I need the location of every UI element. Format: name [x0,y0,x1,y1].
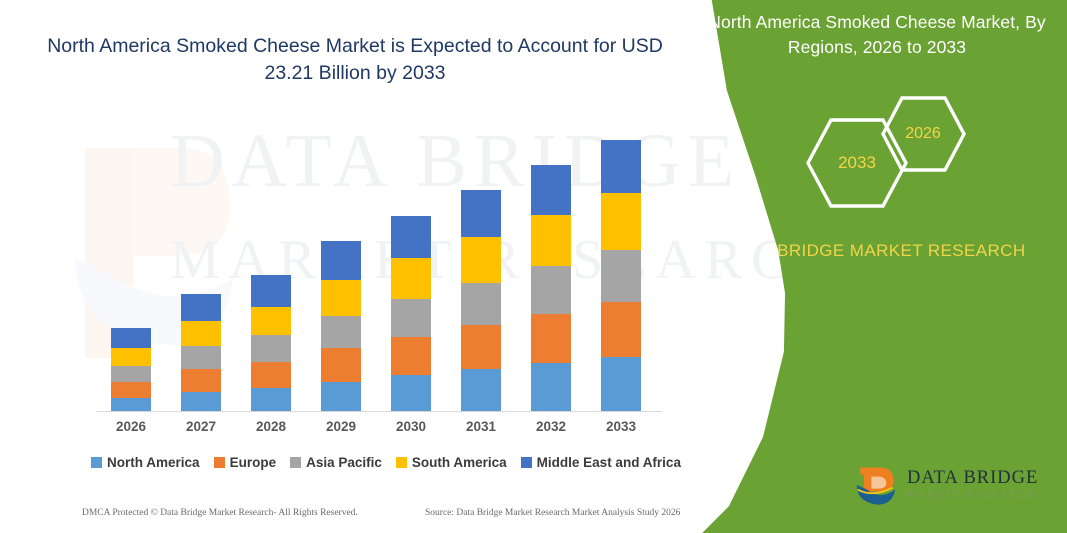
legend-item[interactable]: Europe [214,455,277,470]
page-title: North America Smoked Cheese Market is Ex… [40,33,670,87]
legend-label: Asia Pacific [306,455,382,470]
bar-segment [461,283,501,325]
bar-segment [531,215,571,266]
bar-segment [321,382,361,412]
bar-segment [601,250,641,302]
x-axis-tick-2029: 2029 [313,419,369,434]
bar-column-2028 [251,275,291,412]
bar-segment [601,140,641,193]
bar-segment [321,280,361,316]
bar-segment [461,237,501,283]
legend-swatch-icon [396,457,407,468]
logo-wordmark: DATA BRIDGE MARKET RESEARCH [907,467,1038,502]
bar-segment [251,335,291,362]
bar-segment [601,302,641,356]
x-axis-tick-2031: 2031 [453,419,509,434]
bar-segment [321,348,361,382]
legend-label: Europe [230,455,277,470]
bar-segment [531,266,571,313]
bar-segment [111,348,151,366]
axis-baseline [96,411,662,412]
legend-label: South America [412,455,507,470]
green-side-panel: North America Smoked Cheese Market, By R… [687,0,1067,533]
x-axis-tick-2026: 2026 [103,419,159,434]
bar-segment [181,321,221,346]
brand-name: DATA BRIDGE MARKET RESEARCH [687,238,1067,263]
legend-label: North America [107,455,200,470]
bar-segment [461,190,501,237]
legend-swatch-icon [91,457,102,468]
legend-swatch-icon [214,457,225,468]
hexagon-2026-label: 2026 [905,125,941,143]
data-bridge-logo-mark [853,461,899,507]
bar-segment [111,382,151,399]
logo-subtitle: MARKET RESEARCH [907,491,1038,501]
chart-legend: North AmericaEuropeAsia PacificSouth Ame… [96,455,676,470]
x-axis-tick-2030: 2030 [383,419,439,434]
bar-segment [391,337,431,376]
bar-segment [111,328,151,348]
x-axis-tick-2028: 2028 [243,419,299,434]
hexagon-2026: 2026 [879,95,967,173]
bar-segment [181,346,221,369]
x-axis-labels: 20262027202820292030203120322033 [96,419,656,443]
data-bridge-logo: DATA BRIDGE MARKET RESEARCH [853,457,1043,511]
hexagon-2033-label: 2033 [838,153,876,173]
footer-copyright: DMCA Protected © Data Bridge Market Rese… [82,508,358,518]
chart-panel: DATA BRIDGE MARKET RESEARCH North Americ… [0,0,720,533]
legend-swatch-icon [521,457,532,468]
bar-segment [251,275,291,307]
logo-title: DATA BRIDGE [907,469,1038,488]
legend-item[interactable]: North America [91,455,200,470]
bar-segment [181,392,221,412]
legend-item[interactable]: Middle East and Africa [521,455,681,470]
bar-segment [461,325,501,369]
legend-item[interactable]: Asia Pacific [290,455,382,470]
bar-segment [111,398,151,412]
bar-segment [531,363,571,412]
bar-column-2026 [111,328,151,412]
bar-segment [461,369,501,412]
bar-column-2029 [321,241,361,412]
legend-swatch-icon [290,457,301,468]
bar-segment [111,366,151,382]
x-axis-tick-2032: 2032 [523,419,579,434]
bar-segment [601,357,641,412]
legend-label: Middle East and Africa [537,455,681,470]
bar-column-2031 [461,190,501,412]
x-axis-tick-2033: 2033 [593,419,649,434]
legend-item[interactable]: South America [396,455,507,470]
bar-column-2030 [391,216,431,412]
bar-column-2027 [181,294,221,412]
bar-segment [391,258,431,299]
bar-column-2033 [601,140,641,412]
bar-segment [391,216,431,258]
footer-source: Source: Data Bridge Market Research Mark… [425,508,680,518]
bar-segment [321,241,361,280]
bar-segment [181,294,221,321]
bar-segment [321,316,361,348]
bar-segment [251,362,291,389]
bar-segment [601,193,641,249]
bar-segment [531,165,571,215]
bar-column-2032 [531,165,571,412]
x-axis-tick-2027: 2027 [173,419,229,434]
bar-segment [391,375,431,412]
bar-segment [251,388,291,412]
side-panel-title: North America Smoked Cheese Market, By R… [687,10,1067,60]
bar-segment [391,299,431,337]
stacked-bar-plot [96,140,656,412]
bar-segment [251,307,291,335]
hexagon-group: 2033 2026 [805,95,1005,205]
bar-segment [181,369,221,392]
bar-segment [531,314,571,363]
